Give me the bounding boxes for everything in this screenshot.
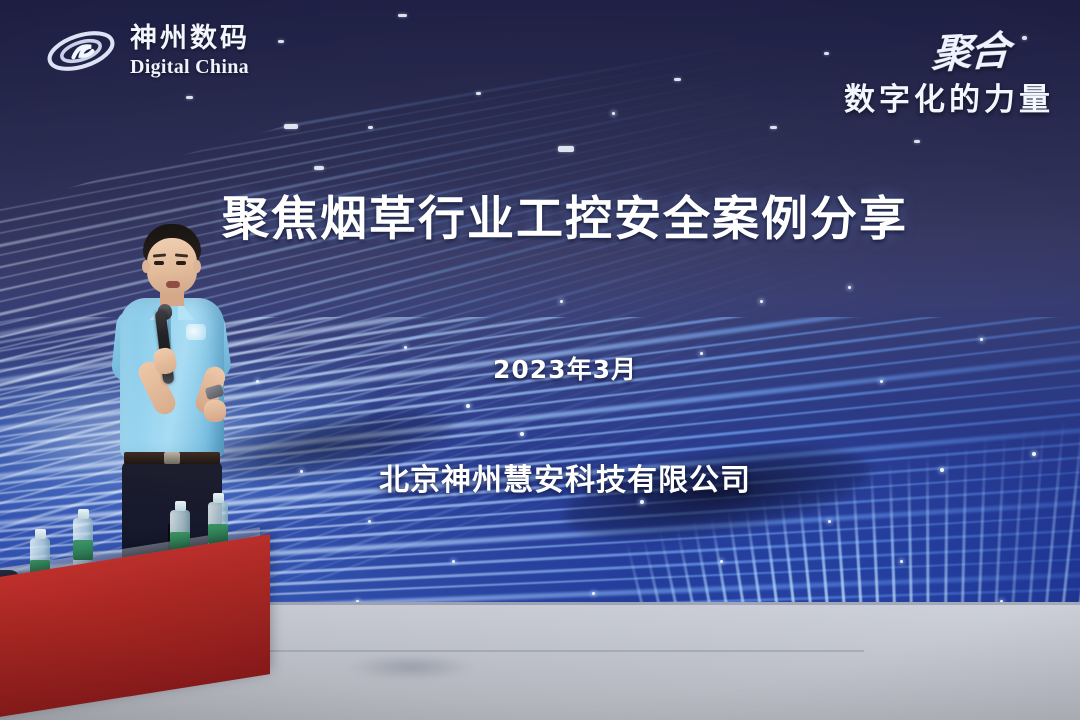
speaker-shirt-logo [186, 324, 206, 340]
light-particle-dash [284, 124, 298, 129]
speaker-mouth [166, 281, 180, 288]
light-particle-dash [398, 14, 407, 17]
light-particle [368, 520, 371, 523]
light-particle-dash [824, 52, 829, 55]
light-particle-dash [186, 96, 193, 99]
light-particle [640, 500, 644, 504]
light-particle-dash [278, 40, 284, 43]
speaker-ear-left [142, 260, 150, 273]
light-particle-dash [770, 126, 777, 129]
light-particle [612, 112, 615, 115]
light-particle-dash [558, 146, 574, 152]
light-particle [900, 560, 903, 563]
light-particle [980, 338, 983, 341]
brand-wordmark: 神州数码 Digital China [130, 25, 250, 77]
light-particle [452, 560, 455, 563]
brand-name-cn: 神州数码 [130, 25, 250, 52]
light-particle-dash [476, 92, 481, 95]
floor-panel-line [194, 650, 864, 652]
conference-stage-photo: 神州数码 Digital China 聚合 数字化的力量 聚焦烟草行业工控安全案… [0, 0, 1080, 720]
event-tagline: 数字化的力量 [844, 74, 1054, 119]
digital-china-spiral-icon [44, 22, 118, 80]
light-particle [760, 300, 763, 303]
brand-name-en: Digital China [130, 57, 250, 77]
light-particle [560, 300, 563, 303]
light-particle [520, 432, 524, 436]
speaker-belt-buckle [164, 452, 180, 464]
light-particle [466, 404, 470, 408]
speaker-hand-right [204, 400, 226, 422]
brand-logo-block: 神州数码 Digital China [44, 22, 250, 80]
light-particle-dash [914, 140, 920, 143]
light-particle-dash [674, 78, 681, 81]
speaker-eye-right [176, 261, 186, 265]
light-particle [720, 560, 723, 563]
speaker-eye-left [154, 261, 164, 265]
event-logo-block: 聚合 数字化的力量 [844, 20, 1054, 119]
light-particle-dash [368, 126, 373, 129]
light-particle [828, 520, 831, 523]
light-particle [404, 346, 407, 349]
floor-scuff-mark [346, 654, 476, 680]
speaker-ear-right [193, 260, 201, 273]
event-calligraphy: 聚合 [930, 18, 1009, 80]
light-particle [592, 592, 595, 595]
light-particle-dash [314, 166, 324, 170]
light-particle [848, 286, 851, 289]
